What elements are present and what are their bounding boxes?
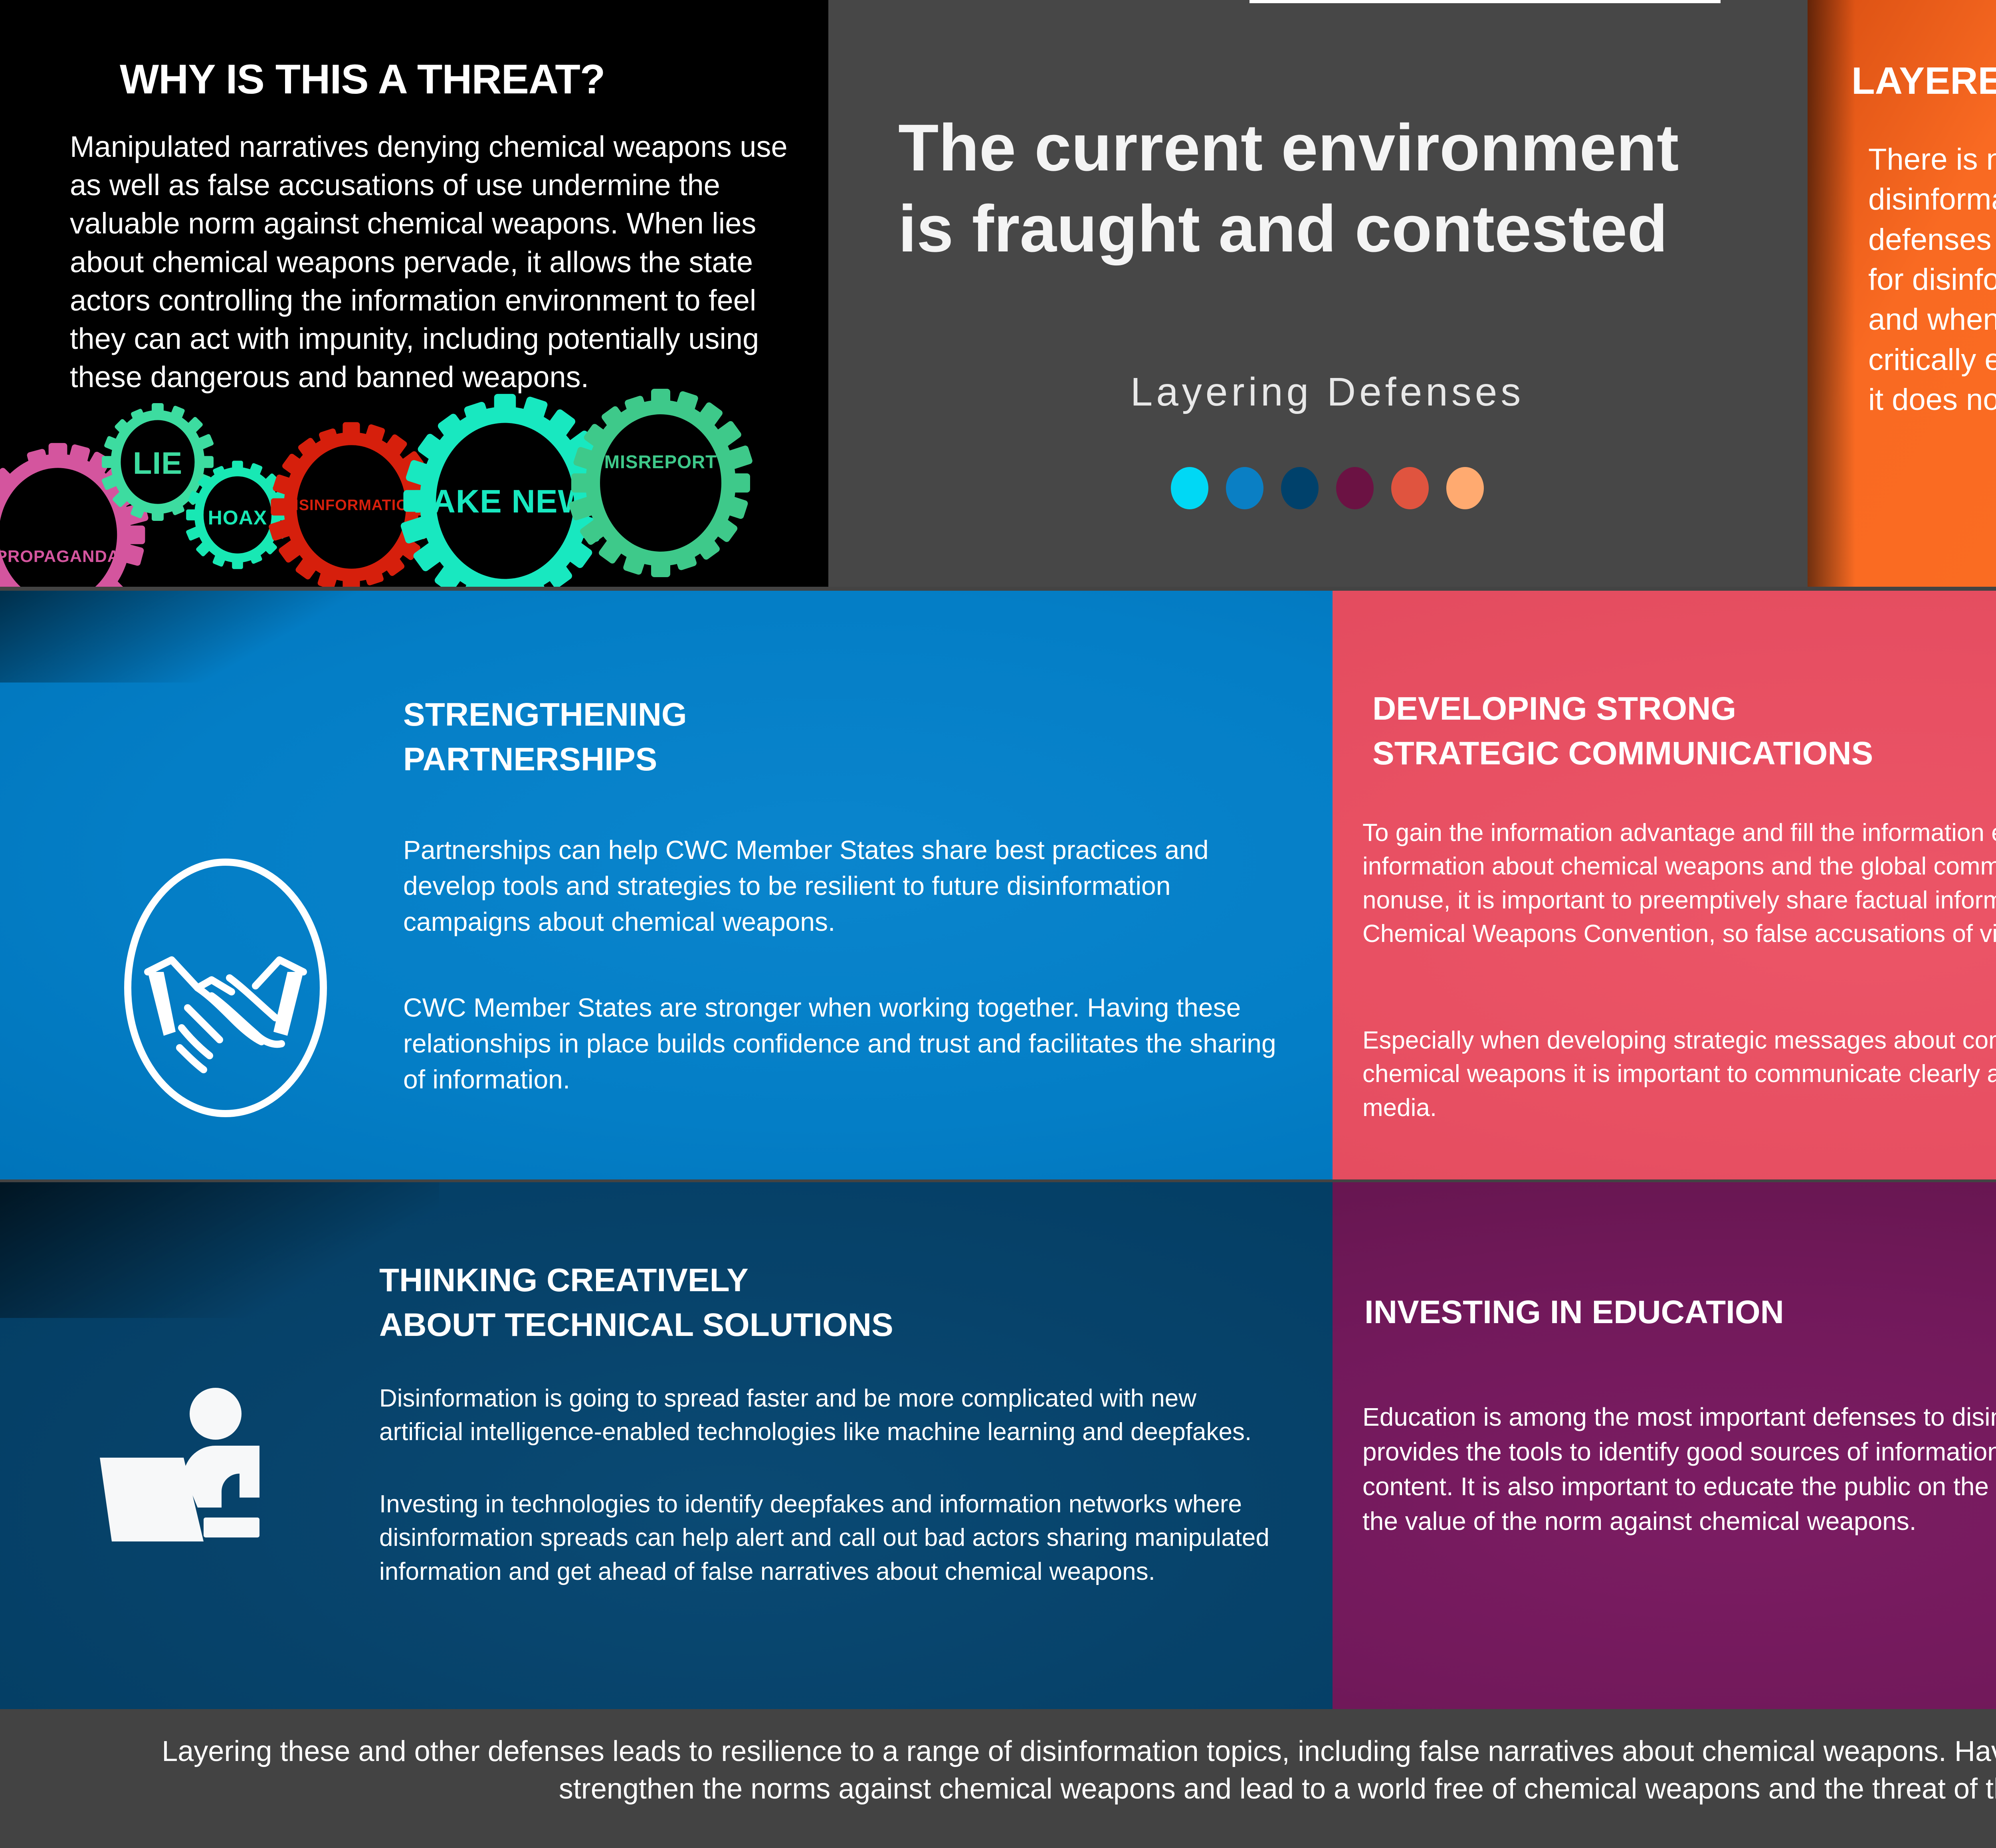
- panel-strengthening-partnerships: STRENGTHENING PARTNERSHIPS Partnerships …: [0, 591, 1333, 1179]
- gears-illustration: PROPAGANDA: [0, 403, 828, 587]
- color-dot-3: [1281, 467, 1319, 509]
- top-row: WHY IS THIS A THREAT? Manipulated narrat…: [0, 0, 1996, 587]
- technical-panel-body-1: Disinformation is going to spread faster…: [379, 1382, 1269, 1449]
- color-dot-6: [1446, 467, 1484, 509]
- footer-summary-text: Layering these and other defenses leads …: [108, 1733, 1996, 1808]
- partnerships-panel-body-2: CWC Member States are stronger when work…: [403, 990, 1301, 1097]
- infographic-board: WHY IS THIS A THREAT? Manipulated narrat…: [0, 0, 1996, 1848]
- communications-title-line-2: STRATEGIC COMMUNICATIONS: [1372, 735, 1873, 772]
- gear-fake-news: FAKE NEWS: [413, 401, 597, 587]
- hero-top-accent-bar: [1249, 0, 1721, 3]
- page-title: The current environment is fraught and c…: [898, 108, 1756, 269]
- gear-label-misreport: MISREPORT: [581, 451, 741, 473]
- technical-panel-title: THINKING CREATIVELY ABOUT TECHNICAL SOLU…: [379, 1258, 1257, 1347]
- gear-hoax: HOAX: [192, 463, 283, 567]
- handshake-icon: [120, 856, 331, 1122]
- partnerships-title-line-2: PARTNERSHIPS: [403, 741, 657, 778]
- panel-why-is-this-a-threat: WHY IS THIS A THREAT? Manipulated narrat…: [0, 0, 828, 587]
- gear-disinformation: DISINFORMATION: [279, 427, 423, 587]
- person-at-laptop-icon: [92, 1382, 267, 1551]
- hero-title-line-1: The current environment: [898, 111, 1679, 185]
- panel-investing-in-education: INVESTING IN EDUCATION Education is amon…: [1333, 1182, 1996, 1709]
- communications-panel-body-2: Especially when developing strategic mes…: [1362, 1024, 1996, 1125]
- technical-title-line-2: ABOUT TECHNICAL SOLUTIONS: [379, 1307, 893, 1343]
- color-dot-5: [1391, 467, 1429, 509]
- panel-thinking-creatively-technical-solutions: THINKING CREATIVELY ABOUT TECHNICAL SOLU…: [0, 1182, 1333, 1709]
- gear-label-fake-news: FAKE NEWS: [413, 483, 597, 520]
- technical-title-line-1: THINKING CREATIVELY: [379, 1262, 748, 1298]
- threat-panel-title: WHY IS THIS A THREAT?: [120, 56, 798, 103]
- technical-panel-body-2: Investing in technologies to identify de…: [379, 1488, 1269, 1589]
- gear-label-disinformation: DISINFORMATION: [279, 497, 423, 514]
- communications-panel-body-1: To gain the information advantage and fi…: [1362, 816, 1996, 951]
- panel-hero-title: The current environment is fraught and c…: [828, 0, 1808, 587]
- footer-bar: Layering these and other defenses leads …: [0, 1709, 1996, 1848]
- gear-misreport: MISREPORT: [581, 395, 741, 571]
- hero-subtitle: Layering Defenses: [898, 369, 1756, 415]
- color-dots-legend: [898, 461, 1756, 515]
- middle-row: STRENGTHENING PARTNERSHIPS Partnerships …: [0, 591, 1996, 1179]
- panel-layered-together-resilience: LAYERED TOGETHER: RESILIENCE There is no…: [1808, 0, 1996, 587]
- resilience-panel-body: There is no silver bullet solution to di…: [1868, 140, 1996, 420]
- gear-label-propaganda: PROPAGANDA: [0, 547, 136, 566]
- color-dot-4: [1336, 467, 1374, 509]
- partnerships-title-line-1: STRENGTHENING: [403, 696, 687, 733]
- communications-panel-title: DEVELOPING STRONG STRATEGIC COMMUNICATIO…: [1372, 687, 1996, 776]
- color-dot-1: [1171, 467, 1208, 509]
- threat-panel-body: Manipulated narratives denying chemical …: [70, 128, 800, 396]
- education-panel-title: INVESTING IN EDUCATION: [1364, 1290, 1996, 1335]
- education-panel-body: Education is among the most important de…: [1362, 1400, 1996, 1539]
- bottom-row: THINKING CREATIVELY ABOUT TECHNICAL SOLU…: [0, 1182, 1996, 1709]
- resilience-panel-title: LAYERED TOGETHER: RESILIENCE: [1851, 59, 1996, 103]
- communications-title-line-1: DEVELOPING STRONG: [1372, 691, 1736, 727]
- hero-title-line-2: is fraught and contested: [898, 192, 1668, 266]
- partnerships-panel-title: STRENGTHENING PARTNERSHIPS: [403, 693, 1162, 782]
- partnerships-panel-body-1: Partnerships can help CWC Member States …: [403, 832, 1281, 940]
- panel-developing-strategic-communications: DEVELOPING STRONG STRATEGIC COMMUNICATIO…: [1333, 591, 1996, 1179]
- color-dot-2: [1226, 467, 1263, 509]
